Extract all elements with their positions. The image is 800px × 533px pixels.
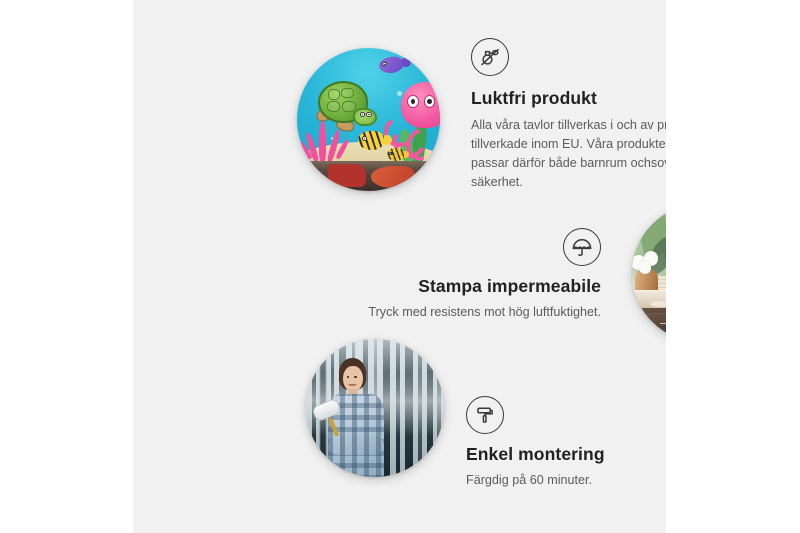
feature-title: Stampa impermeabile [351,276,601,298]
feature-water-resistant: Stampa impermeabile Tryck med resistens … [351,228,601,322]
white-flowers [632,248,665,276]
umbrella-icon [563,228,601,266]
photo-woman-with-paint-roller [306,339,444,477]
underwater-scene [297,48,440,191]
sea-turtle [316,78,385,135]
octopus-pink [386,82,440,156]
feature-odour-free: Luktfri produkt Alla våra tavlor tillver… [471,38,666,192]
feature-icon-wrap [351,228,601,276]
content-panel: Luktfri produkt Alla våra tavlor tillver… [133,0,666,533]
feature-description: Färgdig på 60 minuter. [466,471,666,490]
turtle-eye [366,112,372,117]
fish-eye [381,62,387,67]
fish-body [358,131,384,150]
photo-underwater-illustration [297,48,440,191]
octopus-head [401,82,440,128]
fish-body [387,148,404,161]
fish-small-striped [387,148,404,161]
paint-roller-icon [466,396,504,434]
feature-easy-install: Enkel montering Färgdig på 60 minuter. [466,396,666,490]
feature-icon-wrap [466,396,666,434]
turtle-eye [360,112,366,117]
fish-yellow-striped [358,131,384,150]
bathroom-scene [632,204,666,342]
foreground-strip [297,161,440,191]
feature-description: Alla våra tavlor tillverkas i och av pro… [471,116,666,193]
feature-title: Luktfri produkt [471,88,666,110]
fish-purple [378,55,404,74]
feature-title: Enkel montering [466,444,666,466]
octopus-eye [424,95,435,108]
wooden-cabinet [640,308,666,343]
octopus-eye [407,95,418,108]
screenshot-root: Luktfri produkt Alla våra tavlor tillver… [0,0,800,533]
forest-scene [306,339,444,477]
fish-eye [362,136,368,141]
no-scent-spray-bottle-icon [471,38,509,76]
woman-figure [317,358,408,477]
fish-body [378,55,404,74]
fish-eye [389,152,393,155]
feature-icon-wrap [471,38,666,76]
folded-arms [328,436,384,455]
photo-bathroom-vanity [632,204,666,342]
feature-description: Tryck med resistens mot hög luftfuktighe… [351,303,601,322]
turtle-head [353,108,376,126]
